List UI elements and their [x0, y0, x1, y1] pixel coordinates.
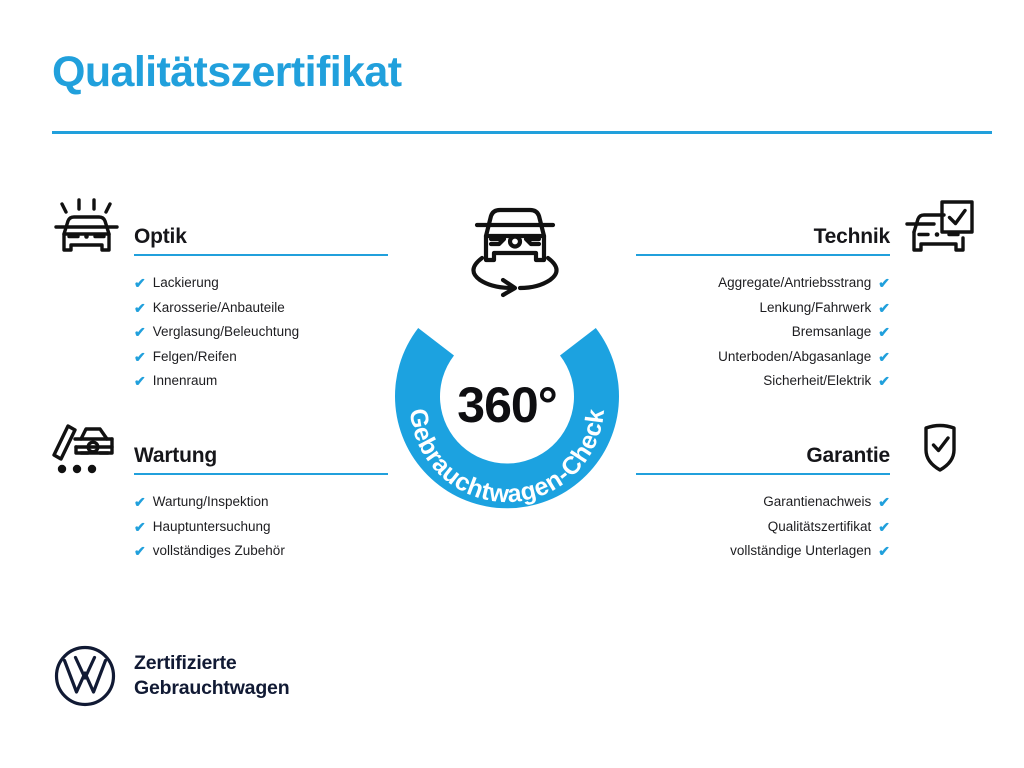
list-item: ✔Lackierung — [134, 276, 388, 290]
section-wartung-divider — [134, 473, 388, 476]
section-wartung-list: ✔Wartung/Inspektion ✔Hauptuntersuchung ✔… — [48, 495, 388, 558]
list-item-label: Bremsanlage — [792, 325, 872, 339]
car-lift-icon — [48, 417, 120, 479]
list-item-label: Verglasung/Beleuchtung — [153, 325, 299, 339]
section-technik-list: Aggregate/Antriebsstrang✔ Lenkung/Fahrwe… — [636, 276, 976, 388]
section-technik-divider — [636, 254, 890, 257]
title-divider — [52, 131, 992, 134]
badge-360-check: Gebrauchtwagen-Check 360° — [374, 198, 656, 498]
section-optik: Optik ✔Lackierung ✔Karosserie/Anbauteile… — [48, 200, 388, 388]
section-garantie-list: Garantienachweis✔ Qualitätszertifikat✔ v… — [636, 495, 976, 558]
check-icon: ✔ — [134, 495, 146, 509]
list-item: ✔vollständiges Zubehör — [134, 544, 388, 558]
check-icon: ✔ — [134, 520, 146, 534]
list-item: Sicherheit/Elektrik✔ — [636, 374, 890, 388]
list-item-label: vollständiges Zubehör — [153, 544, 285, 558]
list-item-label: Lenkung/Fahrwerk — [759, 301, 871, 315]
check-icon: ✔ — [878, 276, 890, 290]
check-icon: ✔ — [878, 495, 890, 509]
page-title: Qualitätszertifikat — [52, 50, 401, 95]
list-item-label: Aggregate/Antriebsstrang — [718, 276, 871, 290]
check-icon: ✔ — [878, 544, 890, 558]
car-shine-icon — [48, 198, 120, 260]
list-item: Unterboden/Abgasanlage✔ — [636, 350, 890, 364]
section-wartung: Wartung ✔Wartung/Inspektion ✔Hauptunters… — [48, 419, 388, 558]
section-garantie-title: Garantie — [806, 444, 890, 468]
section-optik-header: Optik — [48, 200, 388, 260]
list-item-label: Sicherheit/Elektrik — [763, 374, 871, 388]
list-item-label: Felgen/Reifen — [153, 350, 237, 364]
section-optik-title: Optik — [134, 225, 187, 249]
section-wartung-title: Wartung — [134, 444, 217, 468]
check-icon: ✔ — [134, 325, 146, 339]
list-item: ✔Felgen/Reifen — [134, 350, 388, 364]
car-checkbox-icon — [904, 198, 976, 260]
footer-line-2: Gebrauchtwagen — [134, 676, 289, 701]
section-garantie: Garantie Garantienachweis✔ Qualitätszert… — [636, 419, 976, 558]
list-item: Qualitätszertifikat✔ — [636, 520, 890, 534]
footer-line-1: Zertifizierte — [134, 651, 289, 676]
list-item: Bremsanlage✔ — [636, 325, 890, 339]
check-icon: ✔ — [878, 350, 890, 364]
list-item: ✔Hauptuntersuchung — [134, 520, 388, 534]
list-item-label: Innenraum — [153, 374, 218, 388]
check-icon: ✔ — [134, 350, 146, 364]
badge-ring: Gebrauchtwagen-Check — [374, 272, 640, 538]
section-technik-header: Technik — [636, 200, 976, 260]
section-optik-divider — [134, 254, 388, 257]
check-icon: ✔ — [878, 301, 890, 315]
list-item-label: Karosserie/Anbauteile — [153, 301, 285, 315]
check-icon: ✔ — [134, 374, 146, 388]
list-item-label: Lackierung — [153, 276, 219, 290]
list-item-label: Garantienachweis — [763, 495, 871, 509]
footer-text: Zertifizierte Gebrauchtwagen — [134, 651, 289, 701]
check-icon: ✔ — [134, 301, 146, 315]
list-item-label: vollständige Unterlagen — [730, 544, 871, 558]
section-optik-list: ✔Lackierung ✔Karosserie/Anbauteile ✔Verg… — [48, 276, 388, 388]
section-garantie-header: Garantie — [636, 419, 976, 479]
list-item: Lenkung/Fahrwerk✔ — [636, 301, 890, 315]
check-icon: ✔ — [134, 544, 146, 558]
section-technik: Technik Aggregate/Antriebsstrang✔ Lenkun… — [636, 200, 976, 388]
check-icon: ✔ — [878, 374, 890, 388]
list-item: ✔Innenraum — [134, 374, 388, 388]
list-item: Garantienachweis✔ — [636, 495, 890, 509]
list-item-label: Unterboden/Abgasanlage — [718, 350, 871, 364]
shield-check-icon — [904, 417, 976, 479]
check-icon: ✔ — [878, 520, 890, 534]
right-column: Technik Aggregate/Antriebsstrang✔ Lenkun… — [636, 200, 976, 569]
list-item: ✔Wartung/Inspektion — [134, 495, 388, 509]
footer-brand: Zertifizierte Gebrauchtwagen — [54, 645, 289, 707]
check-icon: ✔ — [878, 325, 890, 339]
list-item: Aggregate/Antriebsstrang✔ — [636, 276, 890, 290]
list-item-label: Wartung/Inspektion — [153, 495, 269, 509]
vw-logo — [54, 645, 116, 707]
check-icon: ✔ — [134, 276, 146, 290]
list-item: ✔Verglasung/Beleuchtung — [134, 325, 388, 339]
list-item-label: Hauptuntersuchung — [153, 520, 271, 534]
list-item: vollständige Unterlagen✔ — [636, 544, 890, 558]
left-column: Optik ✔Lackierung ✔Karosserie/Anbauteile… — [48, 200, 388, 569]
section-wartung-header: Wartung — [48, 419, 388, 479]
list-item-label: Qualitätszertifikat — [768, 520, 872, 534]
list-item: ✔Karosserie/Anbauteile — [134, 301, 388, 315]
section-garantie-divider — [636, 473, 890, 476]
certificate-page: Qualitätszertifikat — [0, 0, 1024, 768]
section-technik-title: Technik — [814, 225, 890, 249]
